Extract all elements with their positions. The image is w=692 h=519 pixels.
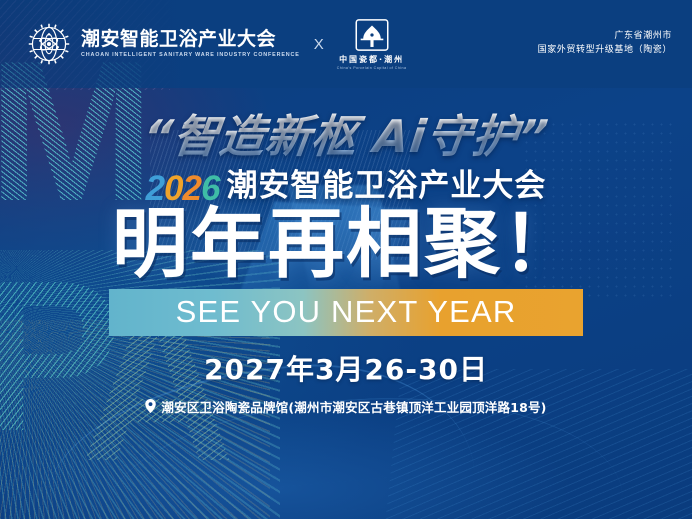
conference-logo-block: 潮安智能卫浴产业大会 CHAOAN INTELLIGENT SANITARY W… (26, 21, 300, 67)
band-row: SEE YOU NEXT YEAR (0, 289, 692, 336)
logo-separator: X (314, 36, 324, 53)
header-base-line: 国家外贸转型升级基地（陶瓷） (538, 44, 672, 58)
partner-name-en: China's Porcelain Capital of China (337, 66, 407, 70)
gear-globe-atom-icon (26, 21, 72, 67)
slogan-row: “智造新枢 Ai守护” (0, 100, 692, 158)
conference-name-en: CHAOAN INTELLIGENT SANITARY WARE INDUSTR… (81, 52, 300, 58)
poster-content: “智造新枢 Ai守护” 2026潮安智能卫浴产业大会 明年再相聚！ SEE YO… (0, 88, 692, 416)
band-label: SEE YOU NEXT YEAR (109, 294, 583, 330)
conference-name-cn: 潮安智能卫浴产业大会 (81, 30, 300, 50)
poster-headline: 明年再相聚！ (112, 204, 580, 285)
poster-header: 潮安智能卫浴产业大会 CHAOAN INTELLIGENT SANITARY W… (0, 0, 692, 88)
year-title-row: 2026潮安智能卫浴产业大会 (0, 160, 692, 200)
event-poster: M P A (0, 0, 692, 519)
event-date: 2027年3月26-30日 (204, 353, 488, 386)
header-right-info: 广东省潮州市 国家外贸转型升级基地（陶瓷） (538, 30, 672, 58)
event-slogan: “智造新枢 Ai守护” (140, 100, 553, 165)
partner-name-cn: 中国瓷都·潮州 (337, 54, 407, 65)
conference-name: 潮安智能卫浴产业大会 CHAOAN INTELLIGENT SANITARY W… (81, 30, 300, 59)
headline-row: 明年再相聚！ (0, 204, 692, 285)
date-row: 2027年3月26-30日 (0, 348, 692, 388)
partner-logo-block: 中国瓷都·潮州 China's Porcelain Capital of Chi… (337, 18, 407, 70)
porcelain-vase-icon (353, 18, 391, 52)
address-row: 潮安区卫浴陶瓷品牌馆(潮州市潮安区古巷镇顶洋工业园顶洋路18号) (0, 397, 692, 416)
map-pin-icon (145, 399, 156, 413)
header-region-line: 广东省潮州市 (538, 30, 672, 44)
event-address: 潮安区卫浴陶瓷品牌馆(潮州市潮安区古巷镇顶洋工业园顶洋路18号) (161, 397, 546, 416)
see-you-next-year-band: SEE YOU NEXT YEAR (109, 289, 583, 336)
